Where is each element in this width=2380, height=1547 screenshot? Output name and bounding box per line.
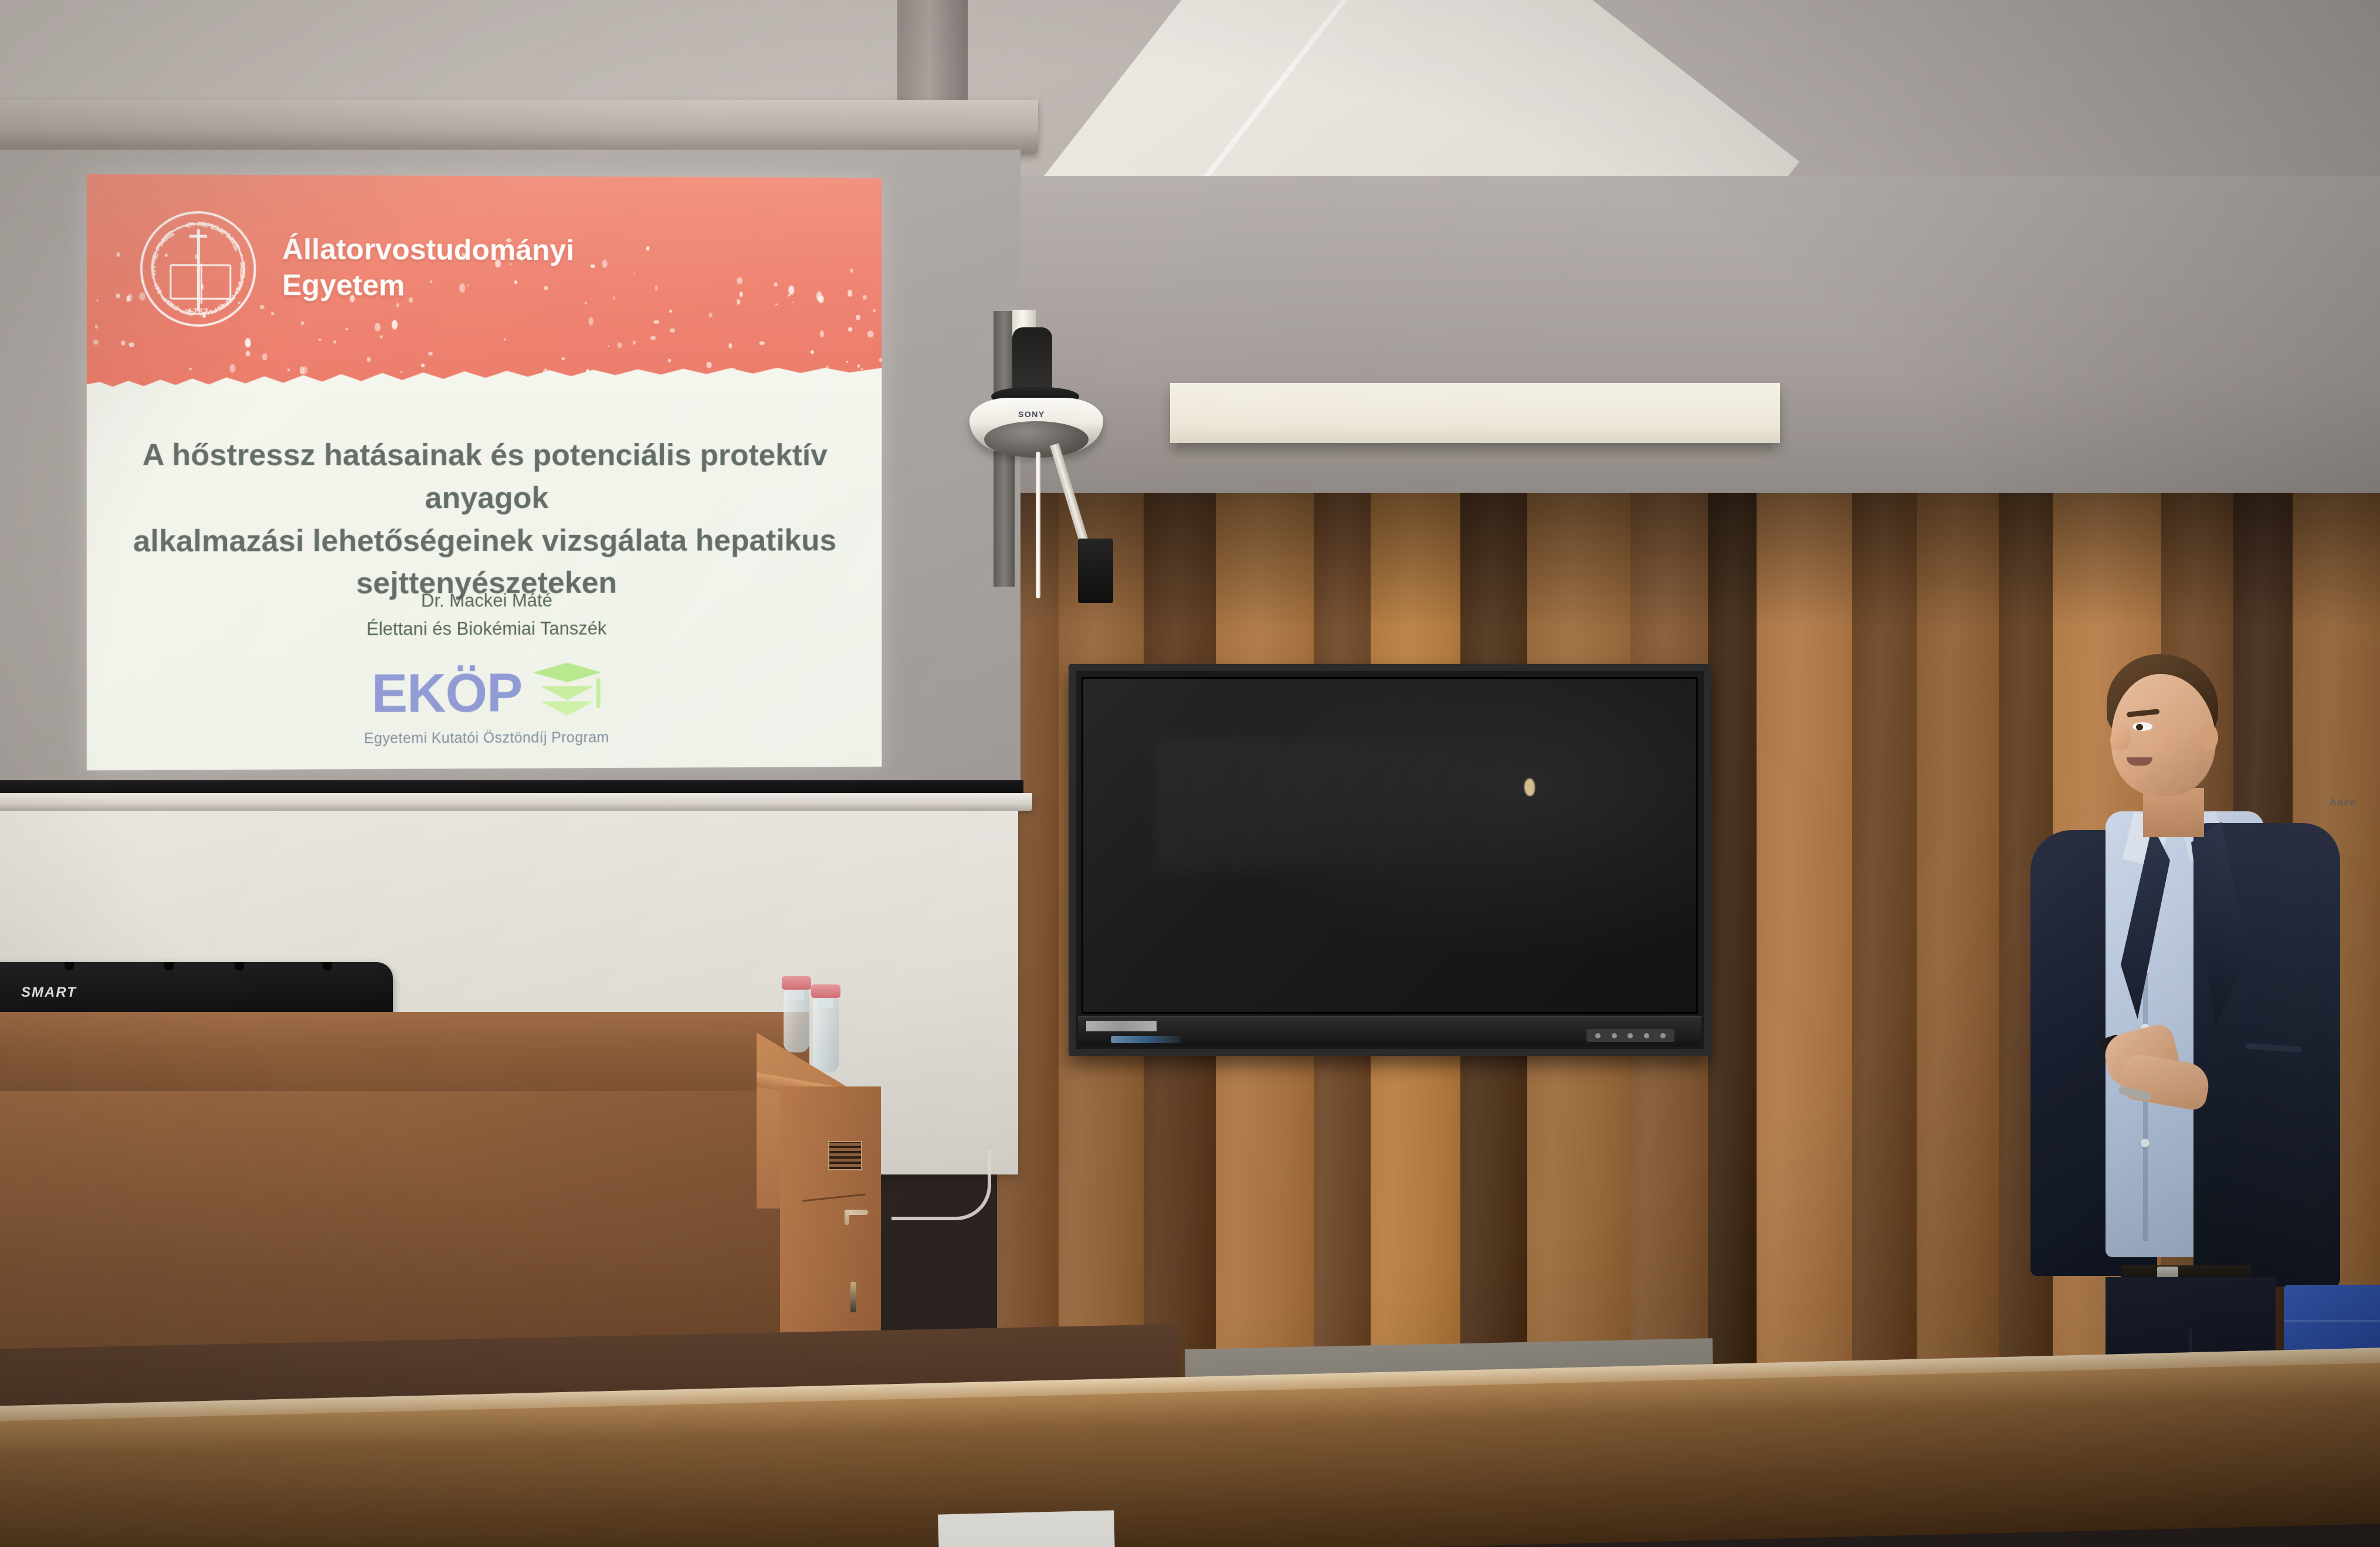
lectern-door-handle[interactable] (845, 1210, 868, 1215)
wood-plank (1917, 493, 1999, 1443)
smart-board-pen-tray[interactable]: SMART (0, 962, 393, 1018)
band-speck (97, 299, 98, 302)
tray-button[interactable] (1595, 1033, 1601, 1038)
band-speck (846, 361, 848, 362)
slide-title: A hőstressz hatásainak és potenciális pr… (128, 434, 842, 606)
band-speck (820, 330, 823, 337)
university-name-line1: Állatorvostudományi (282, 232, 574, 269)
band-speck (740, 292, 743, 297)
band-speck (879, 358, 882, 362)
lecture-hall-scene: SCIENTIARUM · VETERINARIARUM · BUDAPESTI… (0, 0, 2380, 1547)
band-speck (94, 312, 96, 313)
wood-plank (1708, 493, 1757, 1443)
band-speck (633, 341, 636, 345)
band-speck (585, 302, 586, 304)
tray-notch (235, 962, 244, 970)
foreground-paper (938, 1510, 1115, 1547)
band-speck (670, 329, 674, 333)
water-bottle[interactable] (784, 989, 809, 1052)
band-speck (774, 283, 777, 287)
pen-tray[interactable] (1078, 1016, 1701, 1047)
camera-cable (1036, 452, 1040, 598)
smart-brand-label: SMART (21, 984, 77, 1001)
seal-ring-char: S (153, 281, 162, 292)
tray-notch (323, 962, 332, 970)
band-speck (93, 339, 99, 345)
band-torn-edge (87, 367, 882, 395)
slide-title-line2: alkalmazási lehetőségeinek vizsgálata he… (128, 519, 842, 563)
band-speck (246, 351, 250, 356)
cap-layer (540, 686, 594, 700)
band-speck (246, 343, 251, 348)
cap-mortarboard (533, 662, 602, 686)
band-speck (117, 252, 120, 257)
water-bottle[interactable] (813, 997, 839, 1072)
band-speck (669, 309, 672, 313)
band-speck (760, 341, 765, 344)
tray-button[interactable] (1628, 1033, 1633, 1038)
band-speck (863, 295, 867, 300)
band-speck (271, 312, 275, 314)
band-speck (375, 323, 381, 331)
band-speck (590, 265, 595, 268)
eye (2132, 722, 2152, 731)
band-speck (318, 339, 321, 340)
projected-slide: SCIENTIARUM · VETERINARIARUM · BUDAPESTI… (87, 174, 882, 770)
tray-notch (164, 962, 174, 970)
cap-tassel (596, 678, 601, 708)
seal-ring-char: · (151, 273, 156, 283)
band-speck (668, 359, 671, 363)
university-seal-icon: SCIENTIARUM · VETERINARIARUM · BUDAPESTI… (140, 211, 256, 327)
wall-light-panel-underside (1171, 442, 1774, 462)
university-name: Állatorvostudományi Egyetem (282, 232, 574, 304)
university-name-line2: Egyetem (282, 268, 574, 304)
tray-button-cluster[interactable] (1586, 1029, 1674, 1042)
band-speck (873, 309, 876, 312)
tray-label-strip (1086, 1021, 1157, 1031)
band-speck (602, 260, 607, 268)
camera-brand-label: SONY (1018, 409, 1045, 419)
camera-neck (1012, 327, 1052, 392)
band-speck (788, 286, 794, 295)
whiteboard-cable (891, 1150, 991, 1220)
band-speck (653, 320, 659, 323)
band-speck (618, 343, 622, 348)
bottle-neck (818, 996, 833, 1008)
band-speck (816, 292, 822, 301)
band-speck (262, 353, 267, 360)
projection-screen-black-bar (0, 780, 1023, 794)
projection-screen-weight-bar (0, 793, 1032, 811)
band-speck (380, 336, 383, 338)
ekop-logo: EKÖP Egyetemi Kutatói Ösztöndíj Program (87, 662, 882, 749)
band-speck (608, 345, 609, 347)
band-speck (260, 305, 265, 309)
shirt-button (2141, 1139, 2150, 1147)
lectern-vent-grille (828, 1141, 862, 1170)
tray-notch (65, 962, 74, 970)
slide-title-line1: A hőstressz hatásainak és potenciális pr… (128, 434, 842, 520)
wood-plank (1757, 493, 1852, 1443)
band-speck (848, 327, 852, 332)
band-speck (589, 317, 594, 326)
band-speck (728, 343, 732, 348)
tray-button[interactable] (1660, 1033, 1666, 1038)
tray-button[interactable] (1644, 1033, 1649, 1038)
band-speck (633, 273, 635, 274)
slide-department: Élettani és Biokémiai Tanszék (87, 614, 882, 644)
display-screen[interactable] (1081, 677, 1698, 1014)
screen-reflection (1157, 739, 1475, 872)
seal-ring-char: · (174, 225, 183, 231)
band-speck (301, 321, 304, 325)
ekop-wordmark: EKÖP (371, 668, 522, 720)
bag-fold (2284, 1320, 2380, 1322)
seal-staff-icon (197, 229, 200, 312)
band-speck (856, 314, 860, 320)
band-speck (428, 352, 433, 356)
slide-author-name: Dr. Mackei Máté (87, 586, 882, 616)
interactive-flat-panel[interactable] (1069, 664, 1711, 1056)
bottle-cap[interactable] (782, 976, 811, 990)
band-speck (128, 293, 133, 301)
band-speck (737, 299, 740, 304)
wood-plank (1852, 493, 1917, 1443)
band-speck (867, 331, 874, 337)
band-speck (613, 296, 615, 299)
band-speck (850, 269, 853, 273)
band-speck (345, 328, 348, 330)
band-speck (650, 336, 656, 340)
band-speck (847, 290, 852, 296)
lectern-key-lock[interactable] (850, 1282, 856, 1312)
band-speck (396, 303, 399, 307)
seal-book-icon (169, 264, 231, 300)
band-speck (367, 357, 370, 362)
band-speck (116, 293, 120, 298)
camera-wall-bracket (1078, 539, 1113, 603)
screen-glint (1524, 778, 1535, 796)
cap-layer (540, 701, 594, 715)
band-speck (655, 286, 657, 290)
tray-button[interactable] (1612, 1033, 1617, 1038)
band-speck (333, 340, 336, 343)
seal-cross-icon (189, 235, 207, 238)
band-speck (562, 357, 565, 360)
band-speck (788, 294, 790, 297)
ekop-logo-row: EKÖP (371, 662, 602, 724)
band-speck (775, 303, 778, 305)
band-speck (709, 313, 713, 317)
band-speck (95, 325, 98, 329)
band-speck (392, 320, 398, 329)
seal-year: 1787 (188, 307, 208, 316)
band-speck (646, 246, 649, 250)
slide-header-band: SCIENTIARUM · VETERINARIARUM · BUDAPESTI… (87, 174, 882, 394)
seal-ring-char: · (239, 251, 245, 260)
graduation-cap-icon (533, 662, 602, 723)
bottle-cap[interactable] (811, 984, 840, 998)
wall-light-panel (1170, 383, 1780, 443)
band-speck (737, 277, 743, 284)
nose (2110, 727, 2130, 750)
band-speck (811, 350, 814, 354)
tray-pens[interactable] (1111, 1036, 1181, 1043)
band-speck (504, 338, 506, 341)
band-speck (792, 302, 794, 303)
band-speck (121, 340, 126, 345)
slide-author-block: Dr. Mackei Máté Élettani és Biokémiai Ta… (87, 586, 882, 644)
projection-screen-housing (0, 100, 1038, 154)
bottle-neck (789, 988, 804, 1000)
desk-top (0, 1012, 809, 1094)
ekop-subtitle: Egyetemi Kutatói Ösztöndíj Program (364, 729, 609, 747)
band-speck (129, 343, 134, 347)
